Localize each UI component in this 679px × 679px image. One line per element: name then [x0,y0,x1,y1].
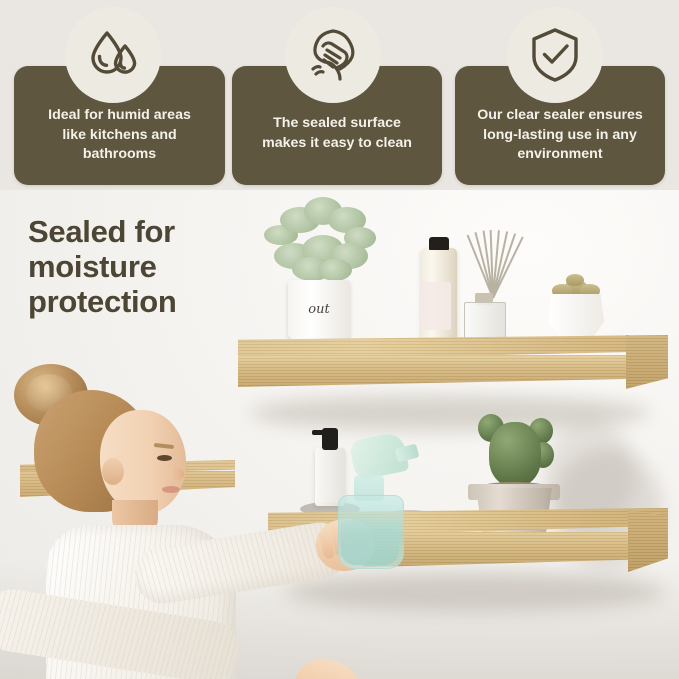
feature-cards: Ideal for humid areas like kitchens and … [0,0,679,195]
diffuser-reeds [460,228,530,298]
feature-card-text: Our clear sealer ensures long-lasting us… [465,106,655,165]
pot-script-text: out [296,302,342,317]
ear [102,458,124,485]
wood-grain [628,510,668,572]
top-shelf-end-face [626,335,668,389]
oil-bottle-cap [429,237,449,250]
headline-line-3: protection [28,284,238,319]
headline-line-1: Sealed for [28,214,238,249]
nose [170,468,184,480]
feature-text-line-1: The sealed surface [242,114,432,134]
lips [162,486,180,493]
page-title: Sealed for moisture protection [28,214,238,319]
feature-text-line-3: bathrooms [24,145,215,165]
infographic-stage: out [0,0,679,679]
feature-text-line-2: like kitchens and [24,126,215,146]
bottom-shelf-end-face [628,510,668,572]
wood-grain [626,335,668,389]
cactus-body [489,422,541,486]
shield-check-icon [510,10,600,100]
feature-text-line-1: Our clear sealer ensures [465,106,655,126]
eye [157,455,172,461]
feature-text-line-3: environment [465,145,655,165]
headline-line-2: moisture [28,249,238,284]
water-droplets-icon [68,10,158,100]
hand-wiping-cloth-icon [288,10,378,100]
greenery-plant [258,195,380,287]
feature-text-line-1: Ideal for humid areas [24,106,215,126]
spray-bottle-liquid [341,520,399,565]
feature-card-text: The sealed surface makes it easy to clea… [242,114,432,153]
feature-card-text: Ideal for humid areas like kitchens and … [24,106,215,165]
oil-bottle-label [421,282,451,330]
girl-figure [0,360,324,679]
feature-text-line-2: makes it easy to clean [242,134,432,154]
feature-text-line-2: long-lasting use in any [465,126,655,146]
